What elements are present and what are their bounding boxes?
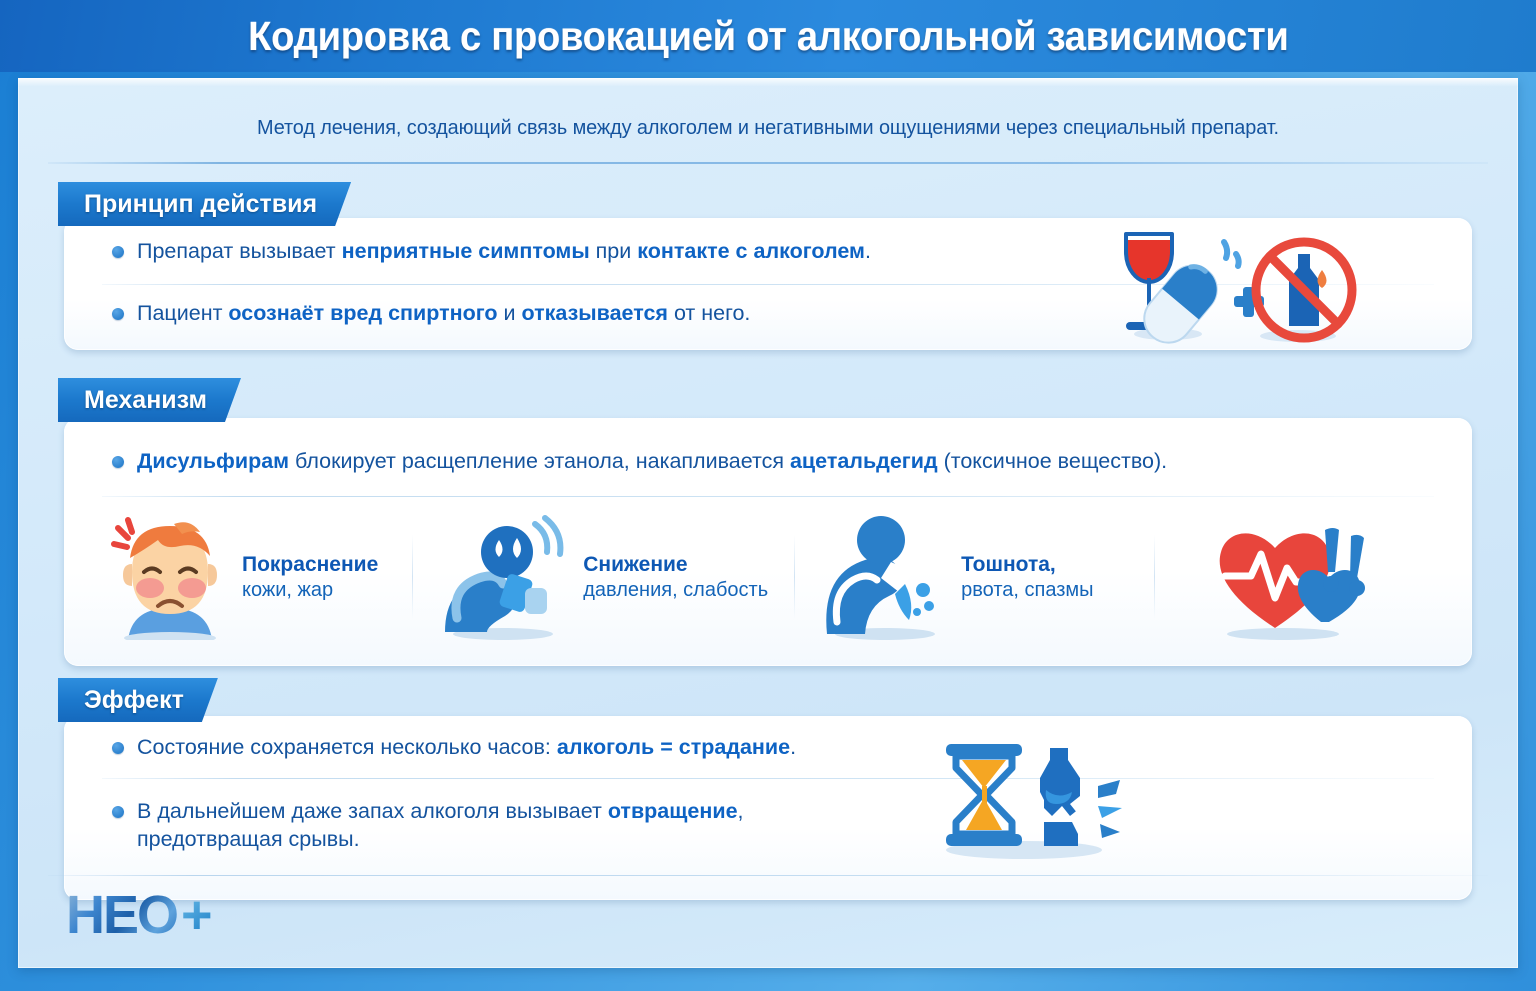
bullet-dot-icon — [112, 246, 124, 258]
symptom-divider — [412, 535, 413, 619]
principle-icon-group — [1108, 226, 1368, 344]
alcohol-plus-drug-icons — [1108, 226, 1368, 344]
text-fragment: Состояние сохраняется несколько часов: — [137, 735, 557, 759]
card-mechanism: Дисульфирам блокирует расщепление этанол… — [64, 418, 1472, 666]
symptom-row: Покраснение кожи, жар — [108, 514, 1379, 640]
card-effect: Состояние сохраняется несколько часов: а… — [64, 716, 1472, 900]
symptom-item: Снижение давления, слабость — [441, 514, 768, 640]
text-fragment: , — [738, 799, 744, 823]
symptom-line2: кожи, жар — [242, 578, 378, 602]
section-tag-principle: Принцип действия — [58, 182, 351, 226]
flushed-face-icon — [108, 514, 232, 640]
divider-top — [48, 162, 1488, 164]
card-principle: Препарат вызывает неприятные симптомы пр… — [64, 218, 1472, 350]
hourglass-icon — [946, 744, 1022, 846]
content-panel: Метод лечения, создающий связь между алк… — [18, 78, 1518, 968]
list-item: Состояние сохраняется несколько часов: а… — [112, 734, 1012, 780]
symptom-divider — [794, 535, 795, 619]
list-item: В дальнейшем даже запах алкоголя вызывае… — [112, 798, 1012, 853]
symptom-label: Тошнота, рвота, спазмы — [961, 552, 1093, 602]
bullet-text: Препарат вызывает неприятные симптомы пр… — [137, 238, 1112, 266]
text-fragment-bold: Дисульфирам — [137, 449, 289, 473]
symptom-line1: Тошнота, — [961, 552, 1093, 578]
heartbeat-alert-icon — [1209, 514, 1369, 640]
vomiting-person-icon — [819, 514, 951, 640]
effect-icon-group — [924, 730, 1144, 860]
bullet-text: Пациент осознаёт вред спиртного и отказы… — [137, 300, 1112, 328]
sparkle-icon — [1224, 242, 1227, 258]
symptom-line2: рвота, спазмы — [961, 578, 1093, 602]
card-divider — [102, 496, 1434, 497]
text-fragment-bold: отказывается — [522, 301, 668, 325]
text-fragment: В дальнейшем даже запах алкоголя вызывае… — [137, 799, 608, 823]
text-fragment: (токсичное вещество). — [938, 449, 1167, 473]
footer-divider — [48, 875, 1488, 876]
text-fragment-bold: алкоголь = страдание — [557, 735, 790, 759]
dizzy-person-icon — [441, 514, 573, 640]
bullet-dot-icon — [112, 742, 124, 754]
symptom-line1: Снижение — [583, 552, 768, 578]
broken-bottle-icon — [1036, 748, 1122, 846]
text-fragment: Препарат вызывает — [137, 239, 342, 263]
text-fragment: блокирует расщепление этанола, накаплива… — [289, 449, 790, 473]
sparkle-icon — [1236, 254, 1239, 266]
symptom-line1: Покраснение — [242, 552, 378, 578]
list-item: Пациент осознаёт вред спиртного и отказы… — [112, 300, 1112, 328]
symptom-label: Снижение давления, слабость — [583, 552, 768, 602]
bullet-text: Состояние сохраняется несколько часов: а… — [137, 734, 1012, 762]
list-item: Дисульфирам блокирует расщепление этанол… — [112, 448, 1412, 476]
hourglass-broken-bottle-icons — [924, 730, 1144, 860]
section-tag-mechanism: Механизм — [58, 378, 241, 422]
bullet-list-mechanism: Дисульфирам блокирует расщепление этанол… — [112, 448, 1412, 476]
symptom-item: Тошнота, рвота, спазмы — [819, 514, 1093, 640]
bullet-dot-icon — [112, 806, 124, 818]
text-fragment: и — [498, 301, 522, 325]
symptom-item — [1209, 514, 1379, 640]
symptom-label: Покраснение кожи, жар — [242, 552, 378, 602]
text-fragment-bold: контакте с алкоголем — [637, 239, 865, 263]
infographic-root: Кодировка с провокацией от алкогольной з… — [0, 0, 1536, 991]
brand-logo: НЕО + — [66, 888, 211, 942]
text-fragment-bold: осознаёт вред спиртного — [228, 301, 497, 325]
bullet-list-effect: Состояние сохраняется несколько часов: а… — [112, 734, 1012, 853]
symptom-divider — [1154, 535, 1155, 619]
symptom-line2: давления, слабость — [583, 578, 768, 602]
bullet-dot-icon — [112, 456, 124, 468]
bullet-text: В дальнейшем даже запах алкоголя вызывае… — [137, 798, 1012, 853]
logo-plus-icon: + — [181, 888, 211, 942]
subtitle: Метод лечения, создающий связь между алк… — [41, 116, 1496, 140]
text-fragment-bold: ацетальдегид — [790, 449, 938, 473]
text-fragment-bold: неприятные симптомы — [342, 239, 590, 263]
symptom-item: Покраснение кожи, жар — [108, 514, 378, 640]
panel-sheen — [18, 78, 1518, 87]
section-tag-effect: Эффект — [58, 678, 218, 722]
text-fragment: . — [865, 239, 871, 263]
text-fragment: . — [790, 735, 796, 759]
text-fragment-bold: отвращение — [608, 799, 738, 823]
page-title: Кодировка с провокацией от алкогольной з… — [248, 13, 1288, 60]
bullet-text: Дисульфирам блокирует расщепление этанол… — [137, 448, 1412, 476]
text-fragment: от него. — [668, 301, 750, 325]
text-fragment: при — [590, 239, 638, 263]
no-alcohol-icon — [1256, 242, 1352, 338]
text-fragment-wrap: предотвращая срывы. — [137, 826, 1012, 854]
bullet-list-principle: Препарат вызывает неприятные симптомы пр… — [112, 238, 1112, 328]
header-bar: Кодировка с провокацией от алкогольной з… — [0, 0, 1536, 72]
text-fragment: Пациент — [137, 301, 228, 325]
bullet-dot-icon — [112, 308, 124, 320]
logo-text: НЕО — [66, 888, 177, 942]
list-item: Препарат вызывает неприятные симптомы пр… — [112, 238, 1112, 284]
